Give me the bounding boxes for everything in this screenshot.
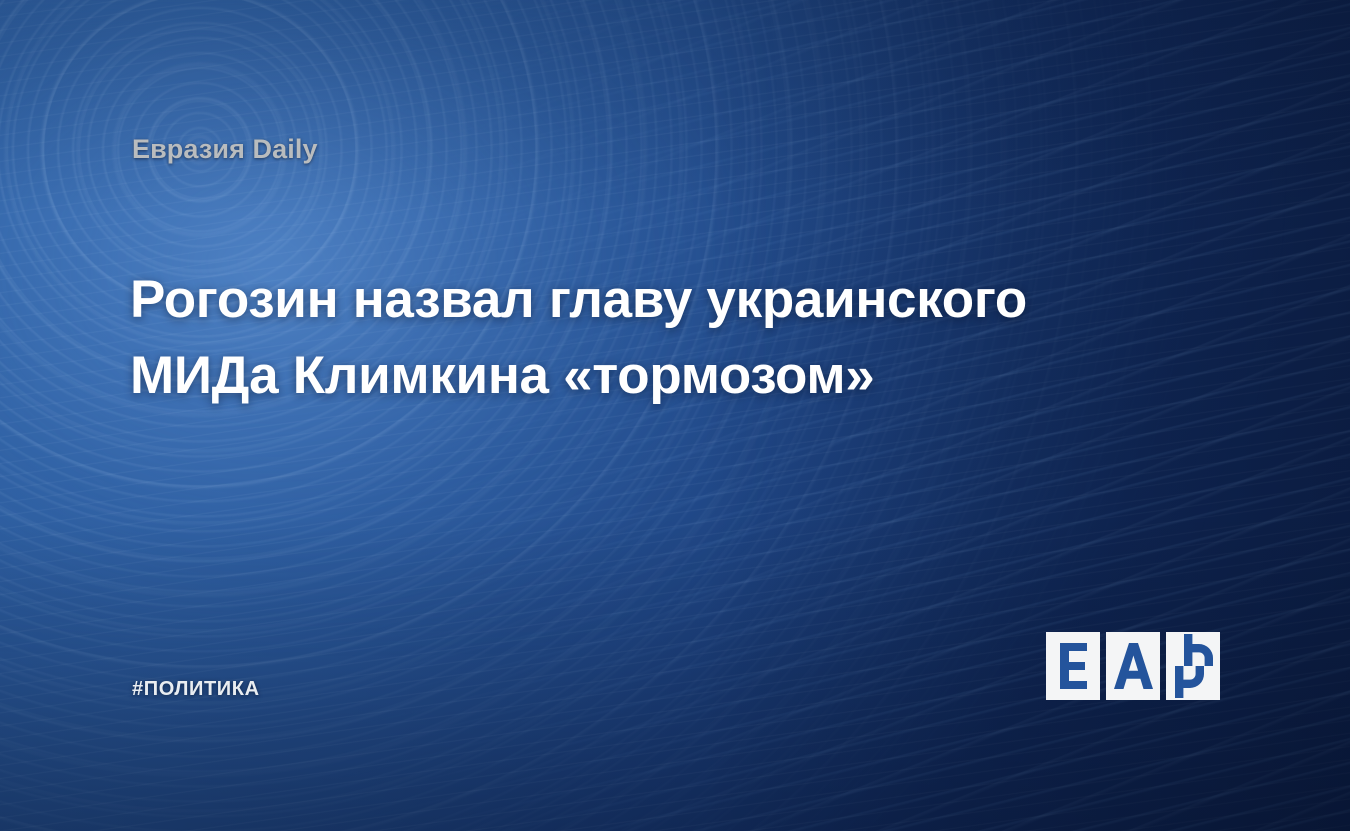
share-card: Евразия Daily Рогозин назвал главу украи… [0,0,1350,831]
card-content: Евразия Daily Рогозин назвал главу украи… [0,0,1350,831]
headline: Рогозин назвал главу украинского МИДа Кл… [130,262,1110,415]
logo-tile-a [1106,632,1160,700]
logo-letter-d-split-icon [1166,632,1220,700]
site-name: Евразия Daily [132,134,318,165]
eadaily-logo[interactable] [1046,632,1220,700]
logo-letter-e-icon [1046,632,1100,700]
logo-letter-a-icon [1106,632,1160,700]
category-tag: #ПОЛИТИКА [132,678,260,701]
logo-tile-d [1166,632,1220,700]
logo-tile-e [1046,632,1100,700]
